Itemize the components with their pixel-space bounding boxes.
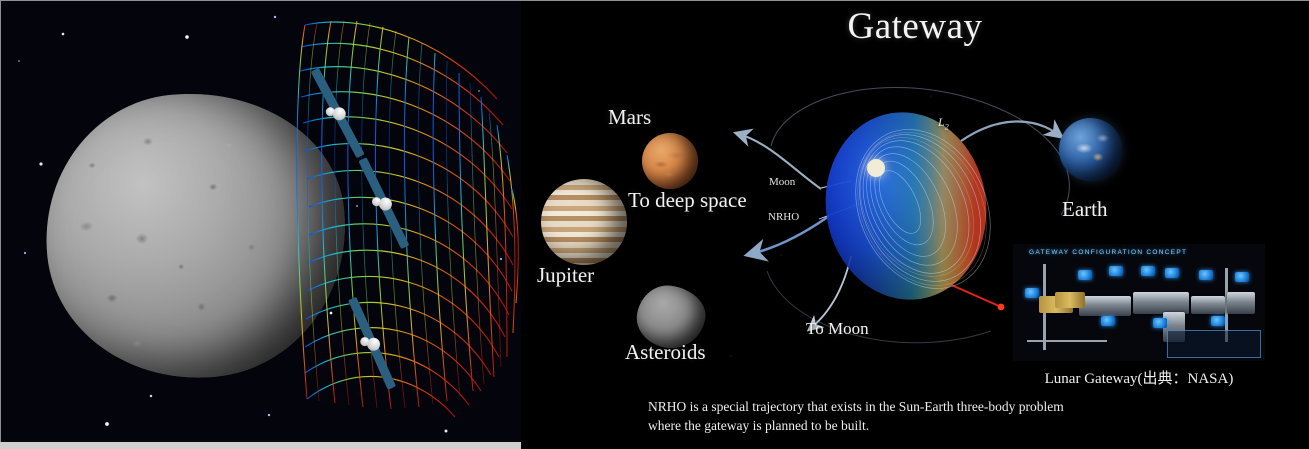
gateway-module — [1227, 292, 1255, 314]
label-mars: Mars — [608, 105, 651, 130]
lagrange-subscript: 2 — [945, 122, 949, 131]
lunar-gateway-caption: Lunar Gateway(出典：NASA) — [1013, 367, 1265, 388]
screenshot-root: Gateway — [0, 0, 1309, 449]
halo-orbit-svg — [816, 106, 1001, 306]
mars-surface-bands — [642, 133, 698, 189]
label-nrho: NRHO — [768, 211, 799, 223]
gateway-callout-badge — [1235, 272, 1249, 282]
jupiter-planet — [541, 179, 627, 265]
nrho-halo-orbit — [816, 106, 1001, 306]
nrho-caption: NRHO is a special trajectory that exists… — [648, 397, 1288, 435]
label-lagrange-point: L2 — [938, 115, 949, 131]
earth-planet — [1059, 118, 1122, 181]
gateway-callout-badge — [1025, 288, 1039, 298]
gateway-callout-badge — [1109, 266, 1123, 276]
gateway-module — [1079, 296, 1131, 316]
gateway-legend-box — [1167, 330, 1261, 358]
label-earth: Earth — [1062, 197, 1107, 222]
gateway-callout-badge — [1153, 318, 1167, 328]
lunar-gateway-inset-image: GATEWAY CONFIGURATION CONCEPT — [1013, 244, 1265, 361]
nrho-caption-line1: NRHO is a special trajectory that exists… — [648, 397, 1288, 416]
gateway-callout-badge — [1211, 316, 1225, 326]
mesh-svg — [291, 3, 521, 439]
gateway-callout-badge — [1101, 316, 1115, 326]
gateway-module — [1191, 296, 1225, 314]
gateway-solar-array — [1055, 292, 1085, 308]
asteroid-mesh-panel — [0, 0, 522, 443]
label-to-moon: To Moon — [806, 319, 869, 339]
gateway-module — [1133, 292, 1189, 314]
deployable-net-mesh — [291, 3, 521, 439]
lagrange-letter: L — [938, 115, 945, 129]
label-to-deep-space: To deep space — [628, 188, 747, 213]
nrho-caption-line2: where the gateway is planned to be built… — [648, 416, 1288, 435]
gateway-config-header: GATEWAY CONFIGURATION CONCEPT — [1029, 249, 1187, 256]
gateway-callout-badge — [1199, 270, 1213, 280]
gateway-truss — [1027, 340, 1107, 342]
gateway-callout-badge — [1078, 270, 1092, 280]
label-moon: Moon — [769, 176, 795, 188]
label-jupiter: Jupiter — [537, 263, 594, 288]
gateway-callout-badge — [1165, 268, 1179, 278]
gateway-callout-badge — [1141, 266, 1155, 276]
label-asteroids: Asteroids — [625, 340, 706, 365]
panel-bottom-strip — [0, 442, 522, 449]
mars-planet — [642, 133, 698, 189]
gateway-diagram-panel: Gateway — [521, 0, 1309, 449]
